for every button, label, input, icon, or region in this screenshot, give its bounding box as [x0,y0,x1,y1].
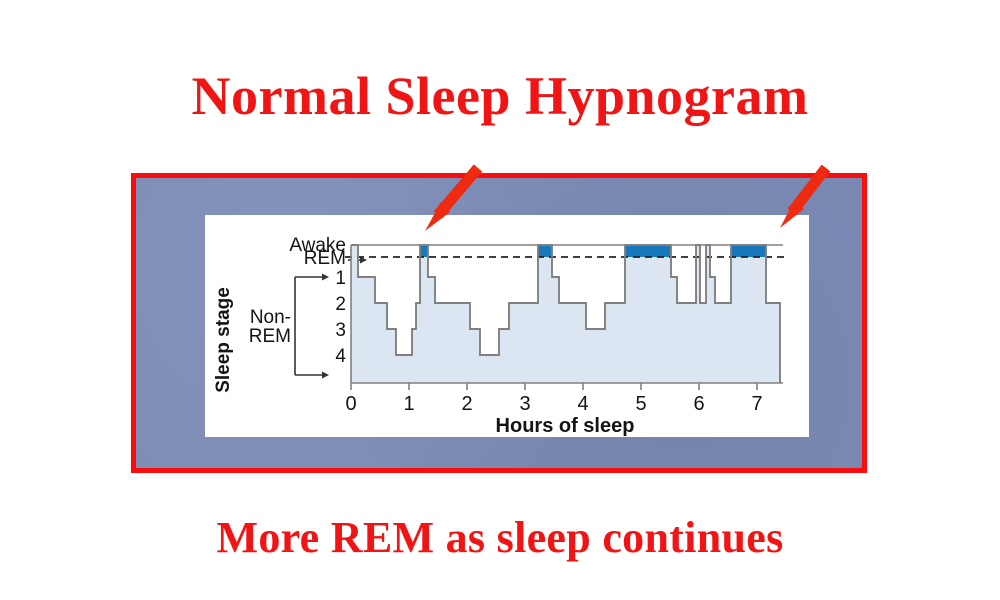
x-tick-2: 2 [461,393,472,415]
x-tick-5: 5 [635,393,646,415]
y-tick-stage-3: 3 [335,320,346,341]
y-tick-stage-1: 1 [335,268,346,289]
y-tick-rem: REM [304,248,346,269]
x-tick-4: 4 [577,393,588,415]
page-caption: More REM as sleep continues [0,512,1000,564]
x-tick-7: 7 [751,393,762,415]
rem-episode-3 [625,245,671,257]
rem-episode-4 [731,245,766,257]
y-tick-stage-4: 4 [335,346,346,367]
x-tick-6: 6 [693,393,704,415]
non-rem-label-line2: REM [249,326,291,347]
x-tick-0: 0 [345,393,356,415]
hypnogram-frame: Sleep stage Awake REM 1 2 3 4 [131,173,867,473]
hypnogram-chart: Sleep stage Awake REM 1 2 3 4 [205,215,809,437]
x-tick-3: 3 [519,393,530,415]
non-rem-bracket-icon [295,274,329,379]
y-axis-label: Sleep stage [213,287,234,393]
rem-episode-1 [420,245,428,257]
x-axis-ticks [351,383,757,390]
chart-card: Sleep stage Awake REM 1 2 3 4 [205,215,809,437]
x-tick-1: 1 [403,393,414,415]
x-axis-label: Hours of sleep [496,415,635,437]
page-title: Normal Sleep Hypnogram [0,66,1000,126]
slide-backdrop: Sleep stage Awake REM 1 2 3 4 [136,178,862,468]
non-rem-label-line1: Non- [250,307,291,328]
rem-episode-2 [538,245,552,257]
y-tick-stage-2: 2 [335,294,346,315]
